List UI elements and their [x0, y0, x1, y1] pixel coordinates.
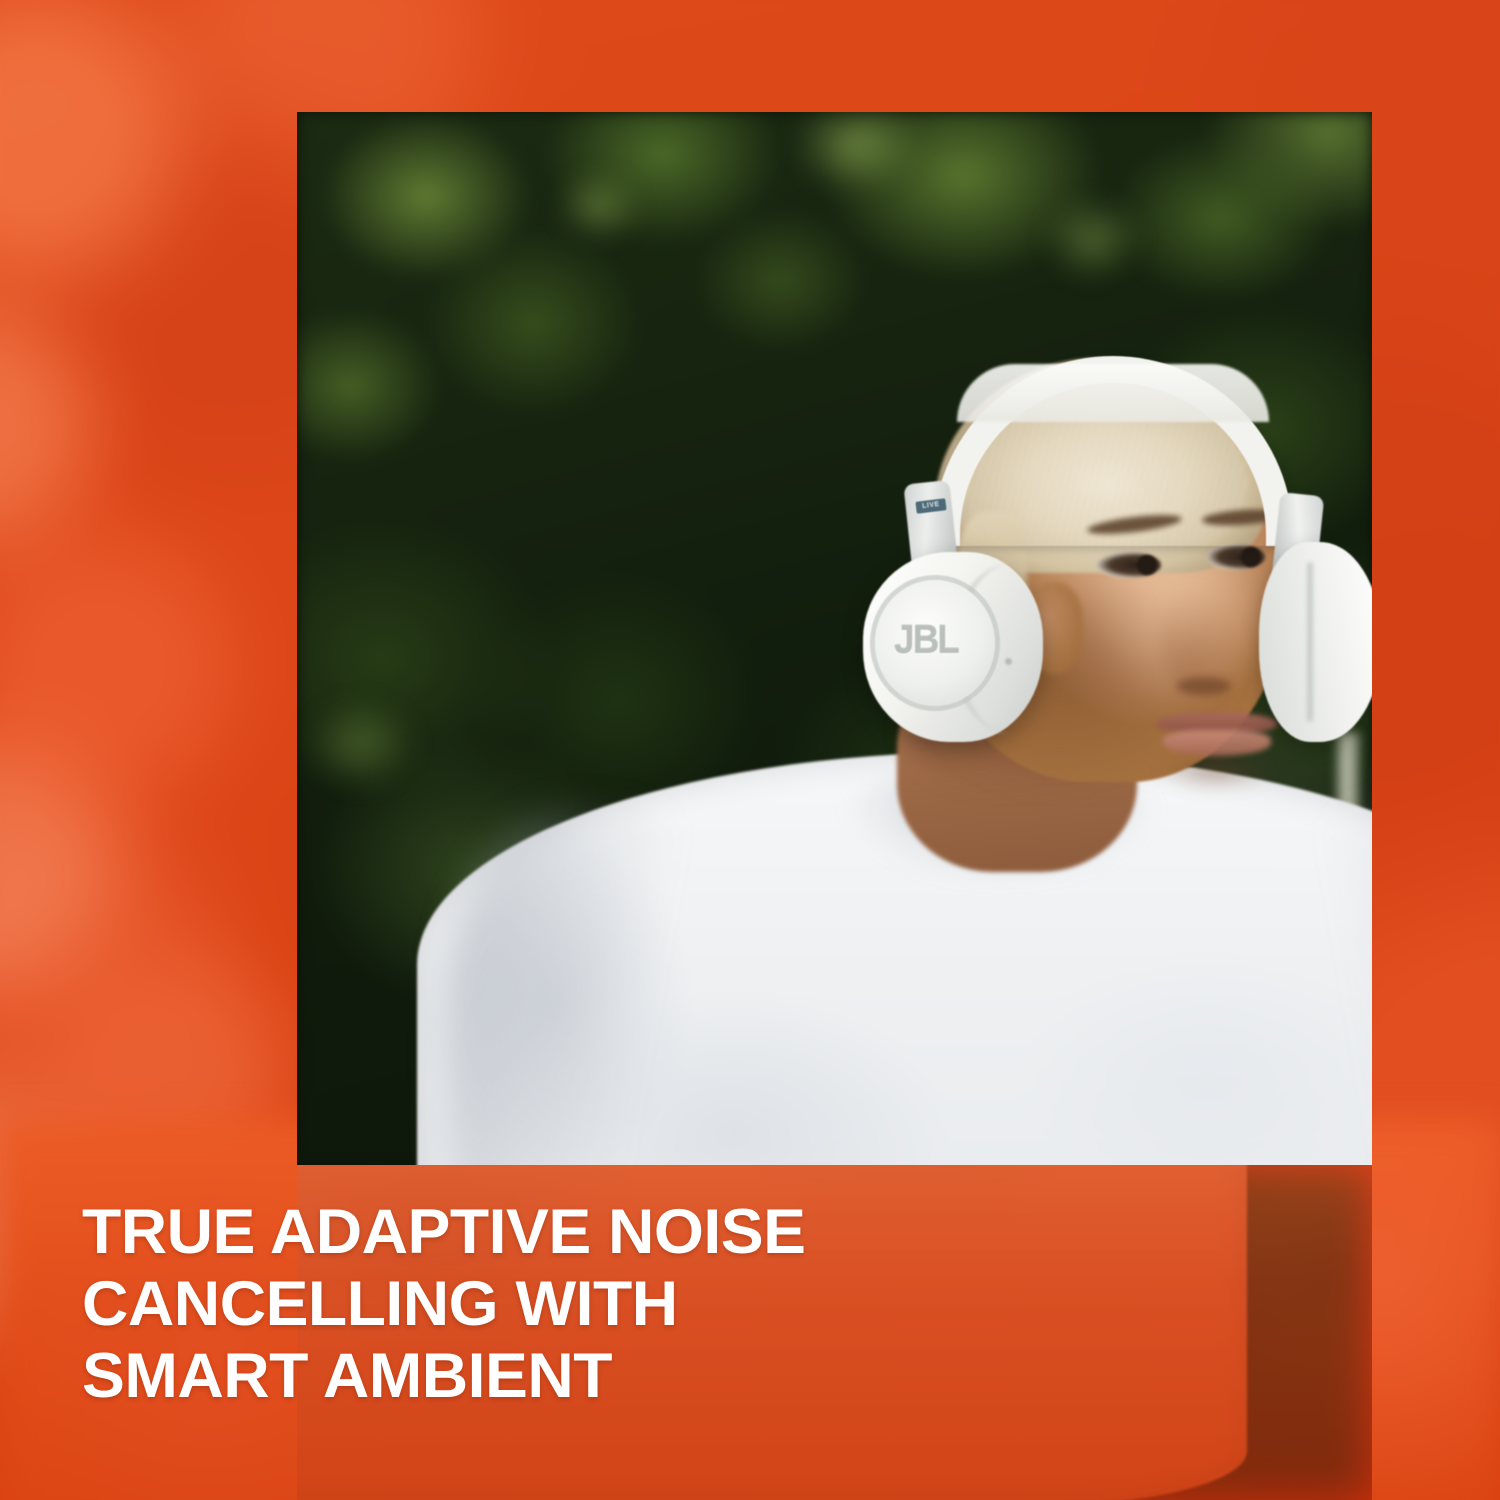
tshirt-shadow-left: [447, 812, 747, 1165]
headline-text: TRUE ADAPTIVE NOISE CANCELLING WITH SMAR…: [82, 1196, 1082, 1412]
pupil-left: [1137, 555, 1157, 575]
earcup-microphone-port: [1005, 658, 1012, 665]
model-figure: LIVE JBL: [297, 112, 1372, 1165]
nostril: [1177, 677, 1231, 695]
jbl-advertisement-canvas: LIVE JBL TRUE ADAPTIVE NOISE CANCELLING …: [0, 0, 1500, 1500]
earcup-right: [1259, 542, 1372, 742]
headband-cushion: [957, 364, 1269, 422]
product-lifestyle-photo: LIVE JBL: [297, 112, 1372, 1165]
earcup-right-seam: [1307, 562, 1313, 722]
jbl-logo: JBL: [894, 615, 968, 665]
chin-shadow: [1155, 760, 1275, 790]
lower-lip: [1163, 730, 1271, 756]
pupil-right: [1241, 547, 1261, 567]
